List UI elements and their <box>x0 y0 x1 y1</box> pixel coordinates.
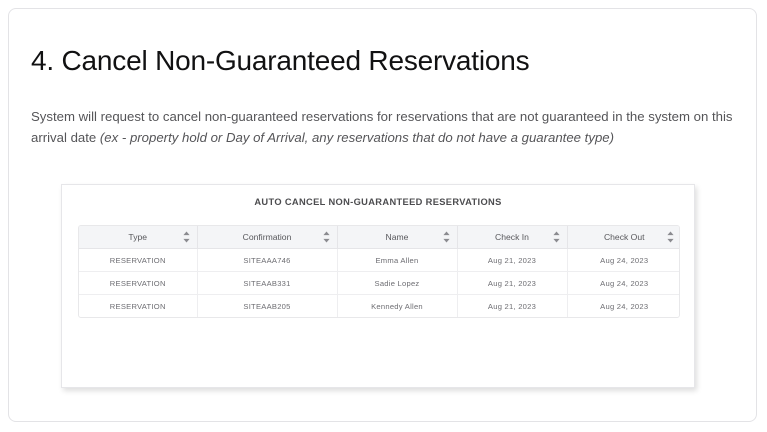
cell-name: Sadie Lopez <box>337 272 457 295</box>
table-header: Type Confirmation Name <box>79 226 680 249</box>
description-paragraph: System will request to cancel non-guaran… <box>31 106 737 148</box>
panel-heading: AUTO CANCEL NON-GUARANTEED RESERVATIONS <box>62 197 694 207</box>
column-header-label: Check Out <box>576 232 674 242</box>
table-row[interactable]: RESERVATION SITEAAB331 Sadie Lopez Aug 2… <box>79 272 680 295</box>
cell-check-out: Aug 24, 2023 <box>567 295 680 318</box>
column-header-label: Check In <box>466 232 559 242</box>
cell-check-in: Aug 21, 2023 <box>457 249 567 272</box>
cell-confirmation: SITEAAA746 <box>197 249 337 272</box>
cell-check-in: Aug 21, 2023 <box>457 295 567 318</box>
cell-type: RESERVATION <box>79 272 197 295</box>
column-header-label: Name <box>346 232 449 242</box>
cell-name: Emma Allen <box>337 249 457 272</box>
cell-check-out: Aug 24, 2023 <box>567 249 680 272</box>
column-header-check-out[interactable]: Check Out <box>567 226 680 249</box>
table-row[interactable]: RESERVATION SITEAAA746 Emma Allen Aug 21… <box>79 249 680 272</box>
table-row[interactable]: RESERVATION SITEAAB205 Kennedy Allen Aug… <box>79 295 680 318</box>
column-header-label: Type <box>87 232 189 242</box>
reservations-table-container: Type Confirmation Name <box>78 225 680 318</box>
cell-confirmation: SITEAAB331 <box>197 272 337 295</box>
column-header-name[interactable]: Name <box>337 226 457 249</box>
sort-updown-icon[interactable] <box>667 232 674 243</box>
table-header-row: Type Confirmation Name <box>79 226 680 249</box>
column-header-confirmation[interactable]: Confirmation <box>197 226 337 249</box>
cell-check-out: Aug 24, 2023 <box>567 272 680 295</box>
cell-check-in: Aug 21, 2023 <box>457 272 567 295</box>
cell-type: RESERVATION <box>79 295 197 318</box>
cell-name: Kennedy Allen <box>337 295 457 318</box>
cell-confirmation: SITEAAB205 <box>197 295 337 318</box>
column-header-label: Confirmation <box>206 232 329 242</box>
table-body: RESERVATION SITEAAA746 Emma Allen Aug 21… <box>79 249 680 318</box>
reservations-table: Type Confirmation Name <box>79 226 680 317</box>
sort-updown-icon[interactable] <box>443 232 450 243</box>
column-header-type[interactable]: Type <box>79 226 197 249</box>
auto-cancel-panel-card: AUTO CANCEL NON-GUARANTEED RESERVATIONS … <box>61 184 695 388</box>
cell-type: RESERVATION <box>79 249 197 272</box>
page-title: 4. Cancel Non-Guaranteed Reservations <box>31 45 529 77</box>
sort-updown-icon[interactable] <box>183 232 190 243</box>
slide-frame: 4. Cancel Non-Guaranteed Reservations Sy… <box>8 8 757 422</box>
sort-updown-icon[interactable] <box>323 232 330 243</box>
column-header-check-in[interactable]: Check In <box>457 226 567 249</box>
sort-updown-icon[interactable] <box>553 232 560 243</box>
description-italic-text: (ex - property hold or Day of Arrival, a… <box>100 130 614 145</box>
